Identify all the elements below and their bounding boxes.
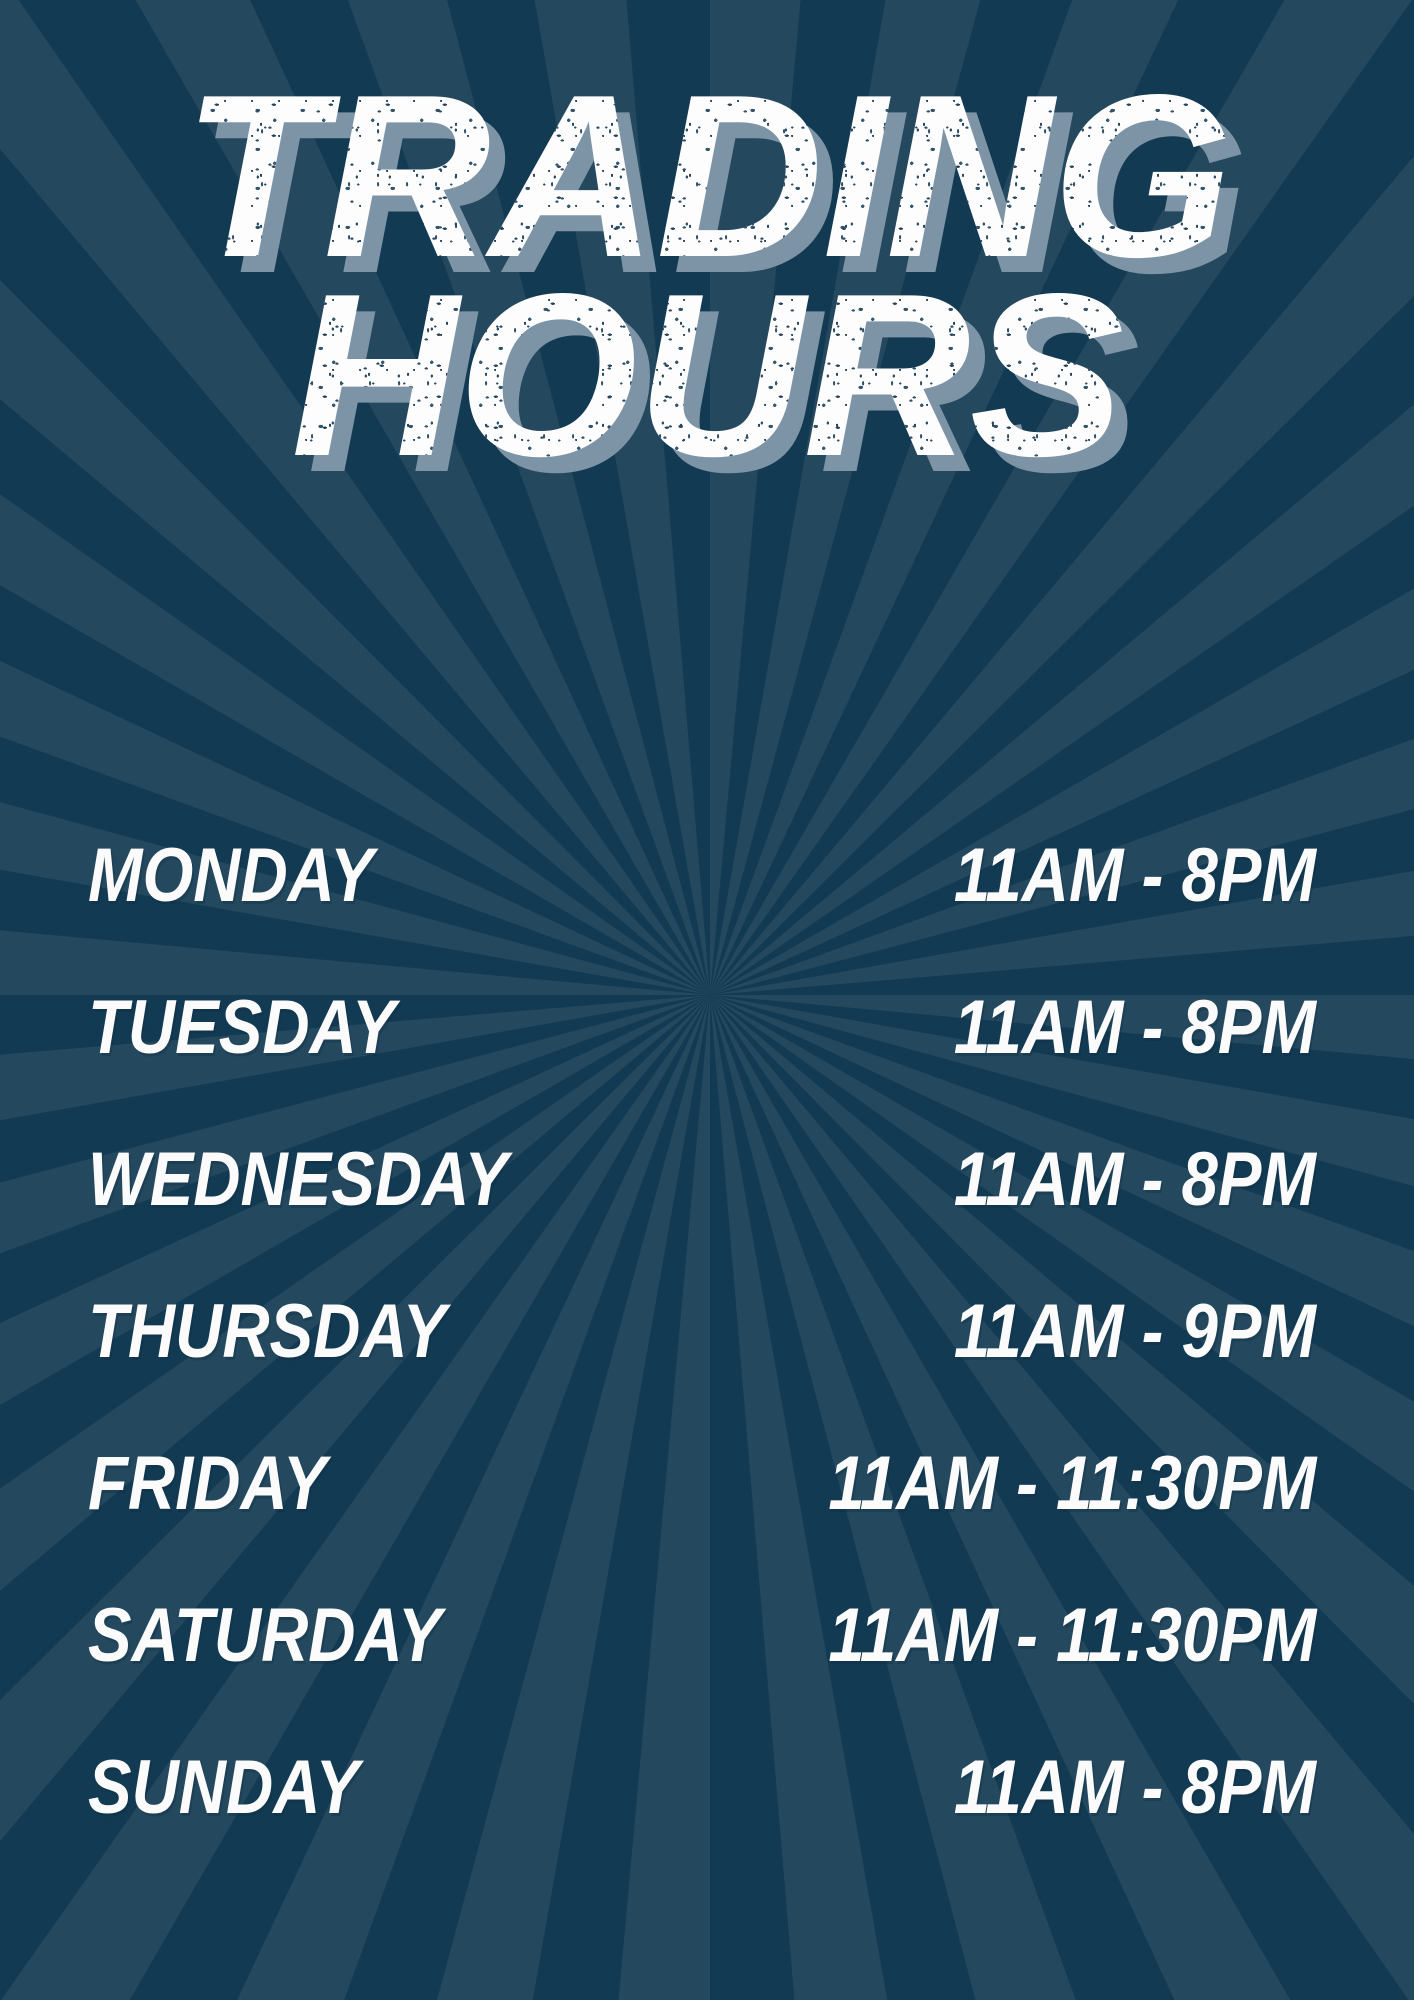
- day-cell: FRIDAY: [88, 1446, 578, 1522]
- time-cell: 11AM - 11:30PM: [578, 1598, 1344, 1674]
- table-row: SUNDAY11AM - 8PM: [88, 1750, 1344, 1902]
- day-cell: SUNDAY: [88, 1750, 578, 1826]
- day-cell: WEDNESDAY: [88, 1142, 578, 1218]
- time-value: 11AM - 8PM: [954, 1142, 1316, 1218]
- day-cell: SATURDAY: [88, 1598, 578, 1674]
- day-label: MONDAY: [88, 838, 374, 914]
- day-cell: TUESDAY: [88, 990, 578, 1066]
- time-value: 11AM - 11:30PM: [828, 1598, 1316, 1674]
- day-cell: MONDAY: [88, 838, 578, 914]
- time-cell: 11AM - 8PM: [578, 1750, 1344, 1826]
- time-value: 11AM - 8PM: [954, 838, 1316, 914]
- time-cell: 11AM - 8PM: [578, 1142, 1344, 1218]
- table-row: SATURDAY11AM - 11:30PM: [88, 1598, 1344, 1750]
- day-label: FRIDAY: [88, 1446, 326, 1522]
- trading-hours-poster: TRADING TRADING TRADING HOURS HOURS HOUR…: [0, 0, 1414, 2000]
- table-row: WEDNESDAY11AM - 8PM: [88, 1142, 1344, 1294]
- table-row: TUESDAY11AM - 8PM: [88, 990, 1344, 1142]
- time-cell: 11AM - 8PM: [578, 838, 1344, 914]
- hours-table: MONDAY11AM - 8PMTUESDAY11AM - 8PMWEDNESD…: [88, 838, 1344, 1902]
- day-label: SATURDAY: [88, 1598, 441, 1674]
- time-value: 11AM - 11:30PM: [828, 1446, 1316, 1522]
- table-row: MONDAY11AM - 8PM: [88, 838, 1344, 990]
- day-label: WEDNESDAY: [88, 1142, 508, 1218]
- time-value: 11AM - 8PM: [954, 1750, 1316, 1826]
- table-row: FRIDAY11AM - 11:30PM: [88, 1446, 1344, 1598]
- day-cell: THURSDAY: [88, 1294, 578, 1370]
- day-label: TUESDAY: [88, 990, 395, 1066]
- time-value: 11AM - 9PM: [954, 1294, 1316, 1370]
- day-label: SUNDAY: [88, 1750, 359, 1826]
- time-value: 11AM - 8PM: [954, 990, 1316, 1066]
- time-cell: 11AM - 8PM: [578, 990, 1344, 1066]
- day-label: THURSDAY: [88, 1294, 446, 1370]
- time-cell: 11AM - 11:30PM: [578, 1446, 1344, 1522]
- table-row: THURSDAY11AM - 9PM: [88, 1294, 1344, 1446]
- time-cell: 11AM - 9PM: [578, 1294, 1344, 1370]
